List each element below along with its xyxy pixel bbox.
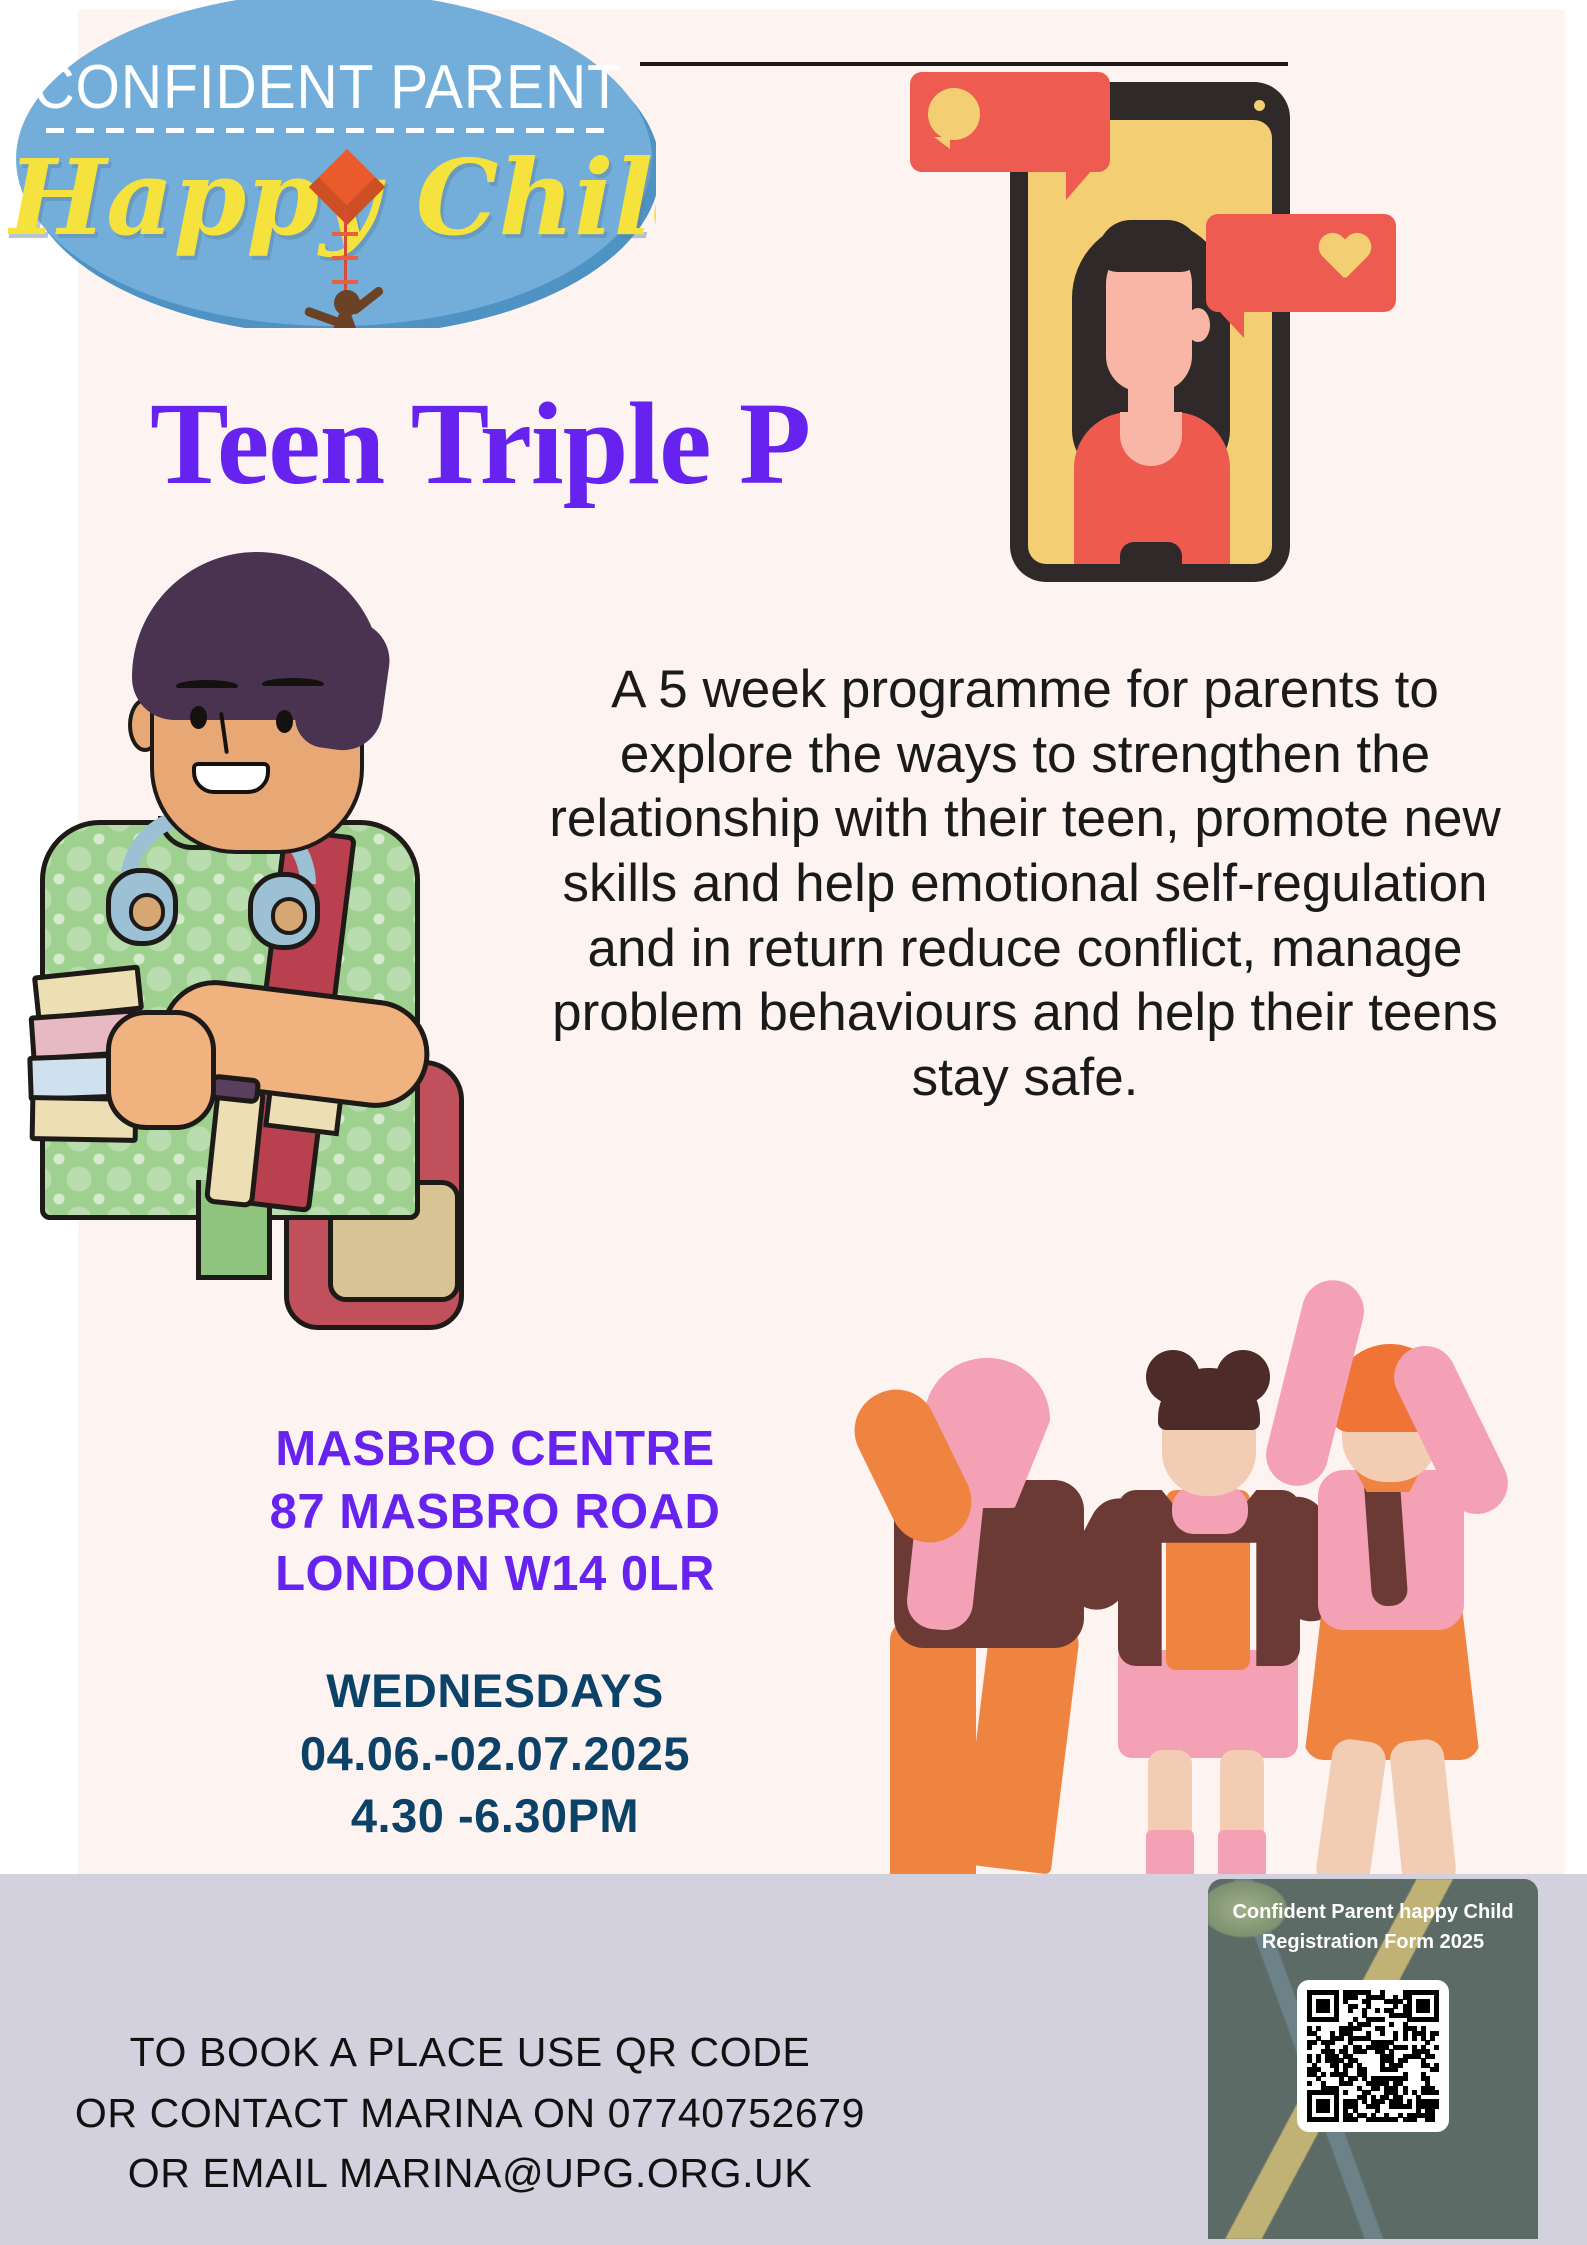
- qr-code-icon[interactable]: [1297, 1980, 1449, 2132]
- qr-module: [1380, 2099, 1385, 2104]
- qr-module: [1434, 2017, 1439, 2022]
- qr-module: [1430, 2036, 1435, 2041]
- boy-rolled-paper-cap: [209, 1073, 261, 1104]
- qr-module: [1434, 2104, 1439, 2109]
- woman-fringe: [1098, 220, 1200, 272]
- boy-brow-left: [176, 680, 238, 692]
- headphones-pad-right: [271, 897, 307, 935]
- qr-module: [1353, 1995, 1358, 2000]
- registration-qr-card[interactable]: Confident Parent happy Child Registratio…: [1208, 1879, 1538, 2239]
- poster-root: CONFIDENT PARENT Happy Child: [0, 0, 1587, 2245]
- qr-module: [1316, 2026, 1321, 2031]
- qr-module: [1325, 2108, 1330, 2113]
- qr-title-line-2: Registration Form 2025: [1218, 1927, 1528, 1957]
- qr-module: [1339, 2036, 1344, 2041]
- chat-bubble-icon: [928, 88, 980, 140]
- booking-info: TO BOOK A PLACE USE QR CODE OR CONTACT M…: [40, 2022, 900, 2204]
- girl2-bun-right: [1216, 1350, 1270, 1404]
- chat-bubble-left: [910, 72, 1110, 172]
- qr-module: [1425, 2008, 1430, 2013]
- boy-eye-right: [276, 710, 293, 733]
- video-call-phone-illustration: [1010, 72, 1290, 582]
- girl1-trousers-right: [961, 1615, 1081, 1874]
- qr-module: [1357, 2026, 1362, 2031]
- phone-screen: [1028, 120, 1272, 564]
- qr-module: [1403, 2076, 1408, 2081]
- schedule-block: WEDNESDAYS 04.06.-02.07.2025 4.30 -6.30P…: [190, 1660, 800, 1848]
- qr-module: [1412, 2036, 1417, 2041]
- phone-notch: [1098, 82, 1202, 108]
- qr-module: [1334, 2117, 1339, 2122]
- page-edge-right: [1565, 0, 1587, 1875]
- qr-module: [1434, 2067, 1439, 2072]
- qr-module: [1425, 2040, 1430, 2045]
- qr-module: [1380, 2031, 1385, 2036]
- qr-module: [1316, 2058, 1321, 2063]
- child-figure-icon: [308, 290, 384, 328]
- girl3-leg-right: [1388, 1738, 1457, 1891]
- girl3-leg-left: [1314, 1737, 1388, 1891]
- qr-module: [1393, 2117, 1398, 2122]
- qr-title-line-1: Confident Parent happy Child: [1218, 1897, 1528, 1927]
- schedule-time: 4.30 -6.30PM: [190, 1785, 800, 1848]
- qr-module: [1412, 2117, 1417, 2122]
- venue-block: MASBRO CENTRE 87 MASBRO ROAD LONDON W14 …: [190, 1418, 800, 1606]
- qr-module: [1348, 2081, 1353, 2086]
- headphones-pad-left: [129, 893, 165, 931]
- qr-module: [1375, 2008, 1380, 2013]
- qr-module: [1321, 2072, 1326, 2077]
- girl3-skirt: [1304, 1610, 1480, 1760]
- boy-brow-right: [262, 678, 324, 690]
- page-title: Teen Triple P: [150, 385, 970, 503]
- boy-smile: [192, 762, 270, 794]
- qr-module: [1343, 2090, 1348, 2095]
- qr-module: [1430, 2054, 1435, 2059]
- qr-module: [1348, 2063, 1353, 2068]
- girl2-bun-left: [1146, 1350, 1200, 1404]
- phone-camera: [1254, 100, 1265, 111]
- chat-bubble-right: [1206, 214, 1396, 312]
- qr-module: [1398, 2063, 1403, 2068]
- qr-module: [1312, 2040, 1317, 2045]
- qr-module: [1434, 2045, 1439, 2050]
- three-teen-girls-illustration: [880, 1290, 1480, 1900]
- qr-module: [1403, 2058, 1408, 2063]
- qr-module: [1434, 2090, 1439, 2095]
- boy-hand: [106, 1010, 216, 1130]
- qr-module: [1375, 2108, 1380, 2113]
- qr-module: [1348, 2008, 1353, 2013]
- kite-bow-2: [332, 256, 358, 260]
- booking-line-2: OR CONTACT MARINA ON 07740752679: [40, 2083, 900, 2144]
- schedule-dates: 04.06.-02.07.2025: [190, 1723, 800, 1786]
- qr-module: [1380, 2017, 1385, 2022]
- qr-module: [1430, 2117, 1435, 2122]
- header-rule: [640, 62, 1288, 66]
- headphones-cup-right: [248, 872, 320, 950]
- brand-logo: CONFIDENT PARENT Happy Child: [8, 0, 656, 328]
- qr-card-title: Confident Parent happy Child Registratio…: [1218, 1897, 1528, 1957]
- qr-module: [1307, 2081, 1312, 2086]
- qr-module: [1375, 2086, 1380, 2091]
- qr-module: [1330, 2040, 1335, 2045]
- qr-module: [1403, 2036, 1408, 2041]
- qr-module: [1353, 2117, 1358, 2122]
- qr-module: [1403, 2090, 1408, 2095]
- qr-module: [1403, 2045, 1408, 2050]
- booking-line-3: OR EMAIL MARINA@UPG.ORG.UK: [40, 2143, 900, 2204]
- schedule-day: WEDNESDAYS: [190, 1660, 800, 1723]
- heart-icon: [1318, 234, 1372, 284]
- qr-module: [1307, 2045, 1312, 2050]
- kite-bow-1: [332, 232, 358, 236]
- venue-line-2: 87 MASBRO ROAD: [190, 1481, 800, 1544]
- qr-module: [1389, 2022, 1394, 2027]
- qr-module: [1407, 2104, 1412, 2109]
- qr-module: [1366, 2022, 1371, 2027]
- qr-module: [1393, 2004, 1398, 2009]
- booking-line-1: TO BOOK A PLACE USE QR CODE: [40, 2022, 900, 2083]
- qr-module: [1362, 2049, 1367, 2054]
- qr-module: [1334, 2017, 1339, 2022]
- logo-divider: [46, 128, 606, 133]
- qr-module: [1353, 2076, 1358, 2081]
- qr-module: [1434, 2031, 1439, 2036]
- venue-line-3: LONDON W14 0LR: [190, 1543, 800, 1606]
- qr-module: [1393, 2036, 1398, 2041]
- phone-home-bar: [1120, 542, 1182, 564]
- venue-line-1: MASBRO CENTRE: [190, 1418, 800, 1481]
- qr-module: [1393, 2067, 1398, 2072]
- boy-eye-left: [190, 706, 207, 729]
- teen-boy-with-backpack-illustration: [10, 520, 590, 1360]
- headphones-cup-left: [106, 868, 178, 946]
- qr-module: [1325, 2008, 1330, 2013]
- logo-top-text: CONFIDENT PARENT: [33, 52, 618, 123]
- woman-ear: [1186, 308, 1210, 342]
- kite-bow-3: [332, 280, 358, 284]
- qr-module: [1353, 2004, 1358, 2009]
- qr-module: [1366, 2004, 1371, 2009]
- body-paragraph: A 5 week programme for parents to explor…: [520, 658, 1530, 1111]
